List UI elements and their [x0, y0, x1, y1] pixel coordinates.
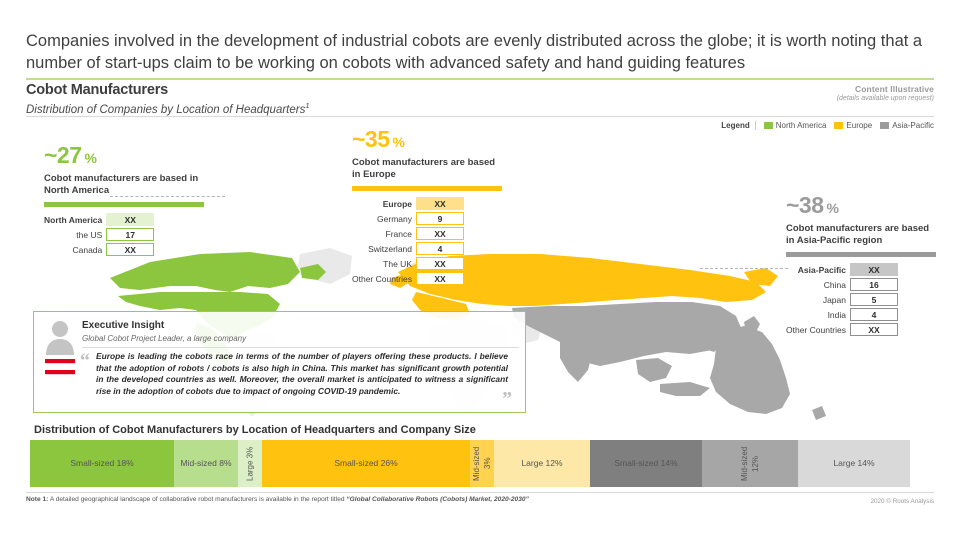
- europe-row-value: XX: [416, 197, 464, 210]
- distribution-segment[interactable]: Small-sized 18%: [30, 440, 174, 487]
- europe-percent-value: ~35: [352, 126, 390, 152]
- europe-row-value: XX: [416, 272, 464, 285]
- europe-percent-sign: %: [393, 134, 405, 150]
- distribution-segment[interactable]: Mid-sized 12%: [702, 440, 798, 487]
- europe-row-label: Switzerland: [352, 242, 416, 255]
- callout-asia-pacific: ~38% Cobot manufacturers are based in As…: [786, 192, 936, 338]
- asia-pacific-description: Cobot manufacturers are based in Asia-Pa…: [786, 223, 936, 247]
- north-america-row-label: Canada: [44, 243, 106, 256]
- europe-row-label: France: [352, 227, 416, 240]
- north-america-table: North America XX the US 17 Canada XX: [44, 211, 154, 258]
- content-illustrative-note: Content Illustrative (details available …: [837, 84, 934, 102]
- europe-row-value: XX: [416, 227, 464, 240]
- subtitle-footnote-marker: 1: [305, 101, 309, 110]
- europe-row-value: 4: [416, 242, 464, 255]
- table-row: the US 17: [44, 228, 154, 241]
- page-subtitle: Distribution of Companies by Location of…: [26, 101, 310, 116]
- table-row: Switzerland 4: [352, 242, 464, 255]
- asia-pacific-row-label: Asia-Pacific: [786, 263, 850, 276]
- north-america-row-value: 17: [106, 228, 154, 241]
- north-america-percent-value: ~27: [44, 142, 82, 168]
- table-row: Asia-Pacific XX: [786, 263, 898, 276]
- asia-pacific-accent-bar: [786, 252, 936, 257]
- connector-line-asia-pacific: [700, 268, 788, 269]
- europe-row-label: The UK: [352, 257, 416, 270]
- page-title: Cobot Manufacturers: [26, 82, 168, 98]
- map-region-asia-pacific[interactable]: [512, 302, 826, 420]
- executive-insight-title: Executive Insight: [82, 320, 164, 331]
- europe-accent-bar: [352, 186, 502, 191]
- table-row: North America XX: [44, 213, 154, 226]
- distribution-stacked-bar: Small-sized 18%Mid-sized 8%Large 3%Small…: [30, 440, 910, 487]
- north-america-row-label: the US: [44, 228, 106, 241]
- executive-insight-quote: Europe is leading the cobots race in ter…: [96, 351, 508, 397]
- distribution-segment[interactable]: Mid-sized 8%: [174, 440, 238, 487]
- asia-pacific-row-value: 16: [850, 278, 898, 291]
- page-subtitle-text: Distribution of Companies by Location of…: [26, 104, 305, 116]
- table-row: Canada XX: [44, 243, 154, 256]
- asia-pacific-row-value: XX: [850, 263, 898, 276]
- europe-table: Europe XX Germany 9 France XX Switzerlan…: [352, 195, 464, 287]
- asia-pacific-row-value: 4: [850, 308, 898, 321]
- callout-north-america: ~27% Cobot manufacturers are based in No…: [44, 142, 204, 258]
- north-america-description: Cobot manufacturers are based in North A…: [44, 173, 204, 197]
- europe-row-label: Other Countries: [352, 272, 416, 285]
- page-headline: Companies involved in the development of…: [26, 30, 934, 74]
- content-illustrative-sub: (details available upon request): [837, 95, 934, 102]
- north-america-row-value: XX: [106, 213, 154, 226]
- distribution-segment[interactable]: Large 12%: [494, 440, 590, 487]
- table-row: Europe XX: [352, 197, 464, 210]
- executive-insight-role: Global Cobot Project Leader, a large com…: [82, 334, 246, 343]
- north-america-percent: ~27%: [44, 142, 204, 169]
- europe-row-label: Germany: [352, 212, 416, 225]
- asia-pacific-row-label: China: [786, 278, 850, 291]
- distribution-segment[interactable]: Large 3%: [238, 440, 262, 487]
- table-row: France XX: [352, 227, 464, 240]
- europe-row-label: Europe: [352, 197, 416, 210]
- north-america-row-label: North America: [44, 213, 106, 226]
- distribution-segment[interactable]: Large 14%: [798, 440, 910, 487]
- asia-pacific-row-value: 5: [850, 293, 898, 306]
- copyright-text: 2020 © Roots Analysis: [871, 498, 934, 505]
- distribution-segment[interactable]: Small-sized 26%: [262, 440, 470, 487]
- table-row: Other Countries XX: [786, 323, 898, 336]
- callout-europe: ~35% Cobot manufacturers are based in Eu…: [352, 126, 502, 287]
- headline-divider: [26, 78, 934, 80]
- asia-pacific-row-label: Japan: [786, 293, 850, 306]
- asia-pacific-row-label: India: [786, 308, 850, 321]
- asia-pacific-percent-sign: %: [827, 200, 839, 216]
- north-america-percent-sign: %: [85, 150, 97, 166]
- footnote: Note 1: A detailed geographical landscap…: [26, 496, 529, 503]
- subtitle-divider: [26, 116, 934, 117]
- north-america-accent-bar: [44, 202, 204, 207]
- north-america-row-value: XX: [106, 243, 154, 256]
- table-row: The UK XX: [352, 257, 464, 270]
- quote-close-icon: ”: [502, 388, 512, 411]
- asia-pacific-row-label: Other Countries: [786, 323, 850, 336]
- europe-percent: ~35%: [352, 126, 502, 153]
- table-row: China 16: [786, 278, 898, 291]
- avatar-icon: [43, 319, 77, 379]
- table-row: Other Countries XX: [352, 272, 464, 285]
- table-row: India 4: [786, 308, 898, 321]
- executive-insight-divider: [82, 347, 519, 348]
- executive-insight-card: Executive Insight Global Cobot Project L…: [33, 311, 526, 413]
- asia-pacific-row-value: XX: [850, 323, 898, 336]
- table-row: Germany 9: [352, 212, 464, 225]
- table-row: Japan 5: [786, 293, 898, 306]
- distribution-chart-title: Distribution of Cobot Manufacturers by L…: [34, 424, 476, 436]
- asia-pacific-table: Asia-Pacific XX China 16 Japan 5 India 4…: [786, 261, 898, 338]
- footnote-text: A detailed geographical landscape of col…: [50, 496, 345, 503]
- distribution-segment[interactable]: Mid-sized 3%: [470, 440, 494, 487]
- quote-open-icon: “: [80, 350, 90, 373]
- footnote-report-title: “Global Collaborative Robots (Cobots) Ma…: [346, 496, 528, 503]
- europe-row-value: XX: [416, 257, 464, 270]
- europe-description: Cobot manufacturers are based in Europe: [352, 157, 502, 181]
- asia-pacific-percent-value: ~38: [786, 192, 824, 218]
- europe-row-value: 9: [416, 212, 464, 225]
- asia-pacific-percent: ~38%: [786, 192, 936, 219]
- content-illustrative-title: Content Illustrative: [837, 84, 934, 94]
- footnote-label: Note 1:: [26, 496, 48, 503]
- distribution-segment[interactable]: Small-sized 14%: [590, 440, 702, 487]
- footer-divider: [26, 492, 934, 493]
- slide-root: Companies involved in the development of…: [0, 0, 960, 540]
